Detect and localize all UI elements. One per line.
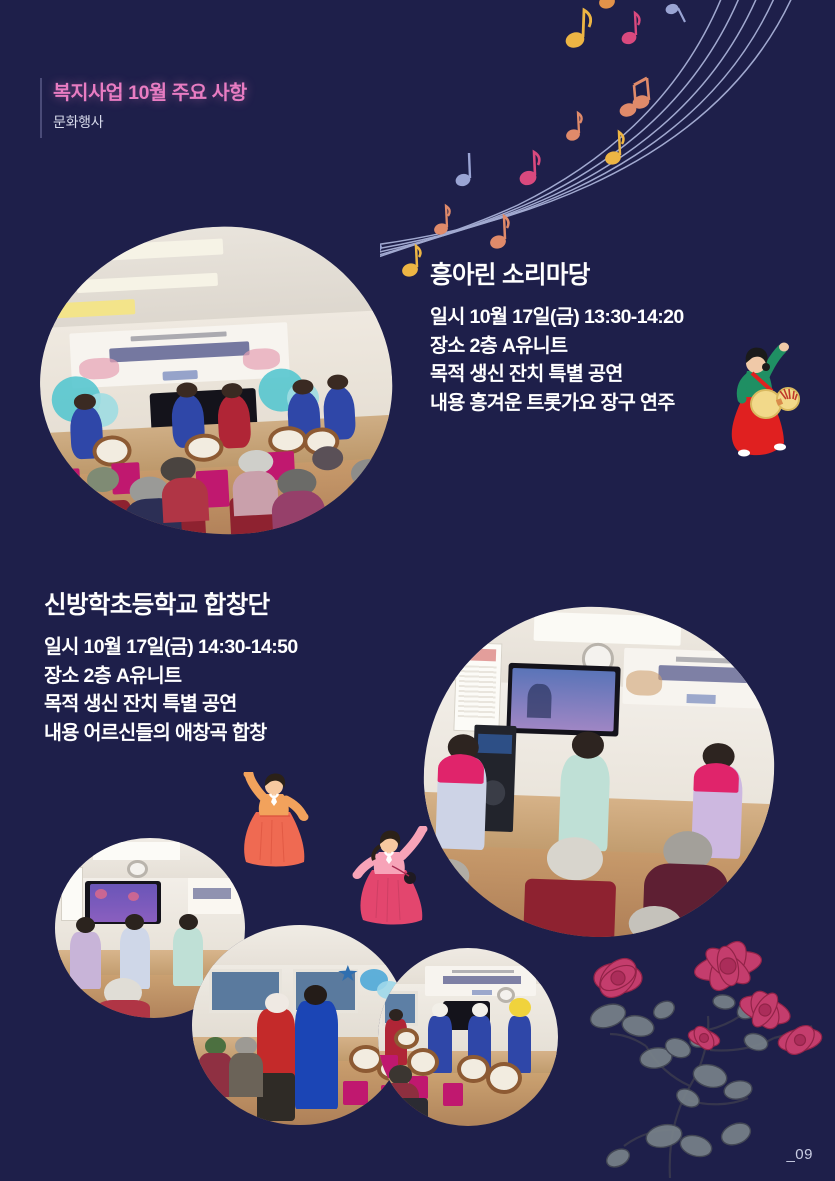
event-row-key: 장소 xyxy=(44,665,79,687)
event-heading: 흥아린 소리마당 xyxy=(430,256,684,291)
event-row-value: 2층 A유니트 xyxy=(470,335,568,357)
page-number: _09 xyxy=(786,1146,813,1163)
event-row-purpose: 목적 생신 잔치 특별 공연 xyxy=(430,360,684,389)
pink-hanbok-dancer-icon xyxy=(352,826,430,926)
event-row-value: 10월 17일(금) 14:30-14:50 xyxy=(84,636,298,658)
event-row-value: 생신 잔치 특별 공연 xyxy=(470,363,623,385)
photo-blue-robe-performer xyxy=(192,925,407,1125)
photo-samulnori-drums xyxy=(378,948,558,1126)
event-row-value: 어르신들의 애창곡 합창 xyxy=(84,722,267,744)
event-row-date: 일시 10월 17일(금) 13:30-14:20 xyxy=(430,303,684,332)
event-row-key: 목적 xyxy=(430,363,465,385)
event-row-content: 내용 어르신들의 애창곡 합창 xyxy=(44,719,298,748)
event-row-key: 장소 xyxy=(430,335,465,357)
page-title: 복지사업 10월 주요 사항 xyxy=(53,76,247,105)
event-row-purpose: 목적 생신 잔치 특별 공연 xyxy=(44,690,298,719)
event-row-value: 생신 잔치 특별 공연 xyxy=(84,693,237,715)
chrysanthemum-branch-icon xyxy=(560,930,835,1180)
page-header: 복지사업 10월 주요 사항 문화행사 xyxy=(40,76,247,132)
event-block-sori-madang: 흥아린 소리마당 일시 10월 17일(금) 13:30-14:20 장소 2층… xyxy=(430,256,684,418)
photo-drum-performance xyxy=(32,218,400,544)
janggu-dancer-icon xyxy=(714,333,810,463)
event-row-key: 내용 xyxy=(44,722,79,744)
event-heading: 신방학초등학교 합창단 xyxy=(44,586,298,621)
event-row-value: 흥겨운 트롯가요 장구 연주 xyxy=(470,392,675,414)
event-row-date: 일시 10월 17일(금) 14:30-14:50 xyxy=(44,633,298,662)
header-rule xyxy=(40,78,42,138)
music-note-group xyxy=(380,0,685,279)
event-block-choir: 신방학초등학교 합창단 일시 10월 17일(금) 14:30-14:50 장소… xyxy=(44,586,298,748)
event-row-key: 목적 xyxy=(44,693,79,715)
event-row-place: 장소 2층 A유니트 xyxy=(430,332,684,361)
event-row-value: 2층 A유니트 xyxy=(84,665,182,687)
event-row-content: 내용 흥겨운 트롯가요 장구 연주 xyxy=(430,389,684,418)
event-row-key: 내용 xyxy=(430,392,465,414)
orange-hanbok-dancer-icon xyxy=(238,772,312,868)
event-row-place: 장소 2층 A유니트 xyxy=(44,662,298,691)
event-row-key: 일시 xyxy=(430,306,465,328)
brochure-page: 복지사업 10월 주요 사항 문화행사 xyxy=(0,0,835,1181)
event-row-key: 일시 xyxy=(44,636,79,658)
page-subtitle: 문화행사 xyxy=(53,112,247,132)
photo-children-choir xyxy=(418,601,779,943)
event-row-value: 10월 17일(금) 13:30-14:20 xyxy=(470,306,684,328)
